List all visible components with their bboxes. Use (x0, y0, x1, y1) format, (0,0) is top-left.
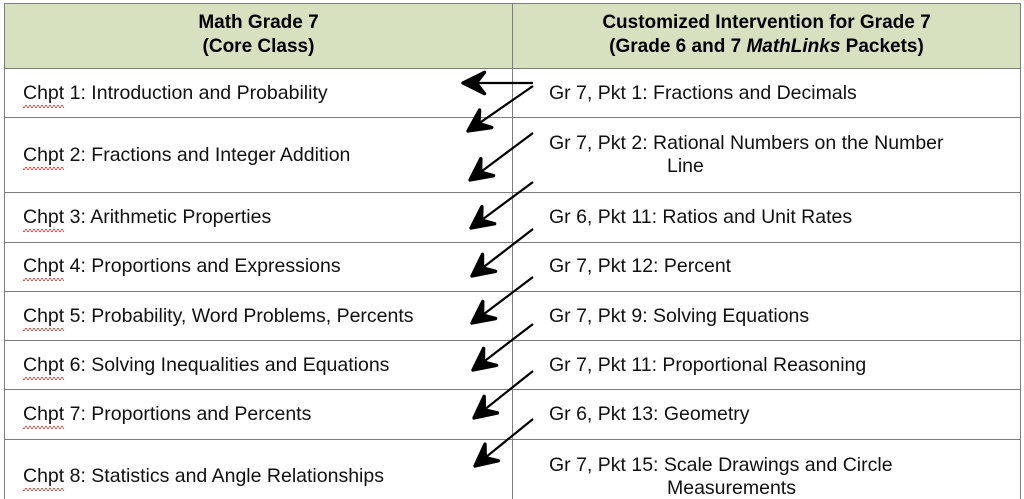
core-chapter-cell-6: Chpt 6: Solving Inequalities and Equatio… (5, 341, 513, 390)
core-chapter-cell-2: Chpt 2: Fractions and Integer Addition (5, 118, 513, 193)
intervention-packet-cell-6: Gr 7, Pkt 11: Proportional Reasoning (513, 341, 1021, 390)
intervention-packet-cell-2: Gr 7, Pkt 2: Rational Numbers on the Num… (513, 118, 1021, 193)
table-row: Chpt 8: Statistics and Angle Relationshi… (5, 439, 1021, 499)
intervention-header-pre: (Grade 6 and 7 (609, 36, 746, 57)
core-chapter-cell-1: Chpt 1: Introduction and Probability (5, 69, 513, 118)
chpt-label-8: Chpt (23, 465, 64, 488)
core-chapter-text-3: 3: Arithmetic Properties (64, 206, 271, 228)
core-chapter-text-4: 4: Proportions and Expressions (64, 255, 340, 277)
core-class-header-line1: Math Grade 7 (198, 12, 318, 33)
chpt-label-3: Chpt (23, 206, 64, 229)
core-chapter-text-1: 1: Introduction and Probability (64, 82, 327, 104)
intervention-packet-cell-1: Gr 7, Pkt 1: Fractions and Decimals (513, 69, 1021, 118)
table-row: Chpt 1: Introduction and Probability Gr … (5, 69, 1021, 118)
intervention-header-line1: Customized Intervention for Grade 7 (602, 12, 930, 33)
core-chapter-text-7: 7: Proportions and Percents (64, 403, 311, 425)
core-chapter-cell-4: Chpt 4: Proportions and Expressions (5, 242, 513, 291)
intervention-header-post: Packets) (840, 36, 923, 57)
intervention-packet-cell-7: Gr 6, Pkt 13: Geometry (513, 390, 1021, 439)
core-chapter-text-8: 8: Statistics and Angle Relationships (64, 465, 384, 487)
table-body: Chpt 1: Introduction and Probability Gr … (5, 69, 1021, 499)
chpt-label-7: Chpt (23, 403, 64, 426)
intervention-packet-cell-4: Gr 7, Pkt 12: Percent (513, 242, 1021, 291)
table-row: Chpt 2: Fractions and Integer Addition G… (5, 118, 1021, 193)
packet-line-8b: Measurements (549, 477, 1012, 499)
core-chapter-cell-3: Chpt 3: Arithmetic Properties (5, 193, 513, 242)
header-row: Math Grade 7 (Core Class) Customized Int… (5, 4, 1021, 69)
intervention-packet-cell-3: Gr 6, Pkt 11: Ratios and Unit Rates (513, 193, 1021, 242)
chpt-label-5: Chpt (23, 305, 64, 328)
column-header-core-class: Math Grade 7 (Core Class) (5, 4, 513, 69)
table-row: Chpt 6: Solving Inequalities and Equatio… (5, 341, 1021, 390)
intervention-header-line2: (Grade 6 and 7 MathLinks Packets) (519, 35, 1014, 59)
packet-line-8a: Gr 7, Pkt 15: Scale Drawings and Circle (549, 454, 1012, 477)
core-class-header-line2: (Core Class) (11, 35, 506, 59)
core-chapter-text-5: 5: Probability, Word Problems, Percents (64, 305, 413, 327)
packet-line-1a: Gr 7, Pkt 1: Fractions and Decimals (549, 82, 1012, 105)
table-row: Chpt 3: Arithmetic Properties Gr 6, Pkt … (5, 193, 1021, 242)
mathlinks-title: MathLinks (746, 36, 840, 57)
core-chapter-text-2: 2: Fractions and Integer Addition (64, 144, 350, 166)
table-row: Chpt 7: Proportions and Percents Gr 6, P… (5, 390, 1021, 439)
packet-line-3a: Gr 6, Pkt 11: Ratios and Unit Rates (549, 206, 1012, 229)
table-header: Math Grade 7 (Core Class) Customized Int… (5, 4, 1021, 69)
alignment-table-page: Math Grade 7 (Core Class) Customized Int… (0, 0, 1024, 499)
packet-line-5a: Gr 7, Pkt 9: Solving Equations (549, 305, 1012, 328)
chpt-label-2: Chpt (23, 144, 64, 167)
core-chapter-text-6: 6: Solving Inequalities and Equations (64, 354, 389, 376)
curriculum-alignment-table: Math Grade 7 (Core Class) Customized Int… (4, 3, 1021, 499)
column-header-intervention: Customized Intervention for Grade 7 (Gra… (513, 4, 1021, 69)
packet-line-2a: Gr 7, Pkt 2: Rational Numbers on the Num… (549, 132, 1012, 155)
table-row: Chpt 5: Probability, Word Problems, Perc… (5, 291, 1021, 340)
packet-line-4a: Gr 7, Pkt 12: Percent (549, 255, 1012, 278)
chpt-label-1: Chpt (23, 82, 64, 105)
packet-line-7a: Gr 6, Pkt 13: Geometry (549, 403, 1012, 426)
intervention-packet-cell-5: Gr 7, Pkt 9: Solving Equations (513, 291, 1021, 340)
core-chapter-cell-7: Chpt 7: Proportions and Percents (5, 390, 513, 439)
packet-line-6a: Gr 7, Pkt 11: Proportional Reasoning (549, 354, 1012, 377)
core-chapter-cell-8: Chpt 8: Statistics and Angle Relationshi… (5, 439, 513, 499)
intervention-packet-cell-8: Gr 7, Pkt 15: Scale Drawings and CircleM… (513, 439, 1021, 499)
chpt-label-4: Chpt (23, 255, 64, 278)
table-row: Chpt 4: Proportions and Expressions Gr 7… (5, 242, 1021, 291)
core-chapter-cell-5: Chpt 5: Probability, Word Problems, Perc… (5, 291, 513, 340)
chpt-label-6: Chpt (23, 354, 64, 377)
packet-line-2b: Line (549, 155, 1012, 178)
